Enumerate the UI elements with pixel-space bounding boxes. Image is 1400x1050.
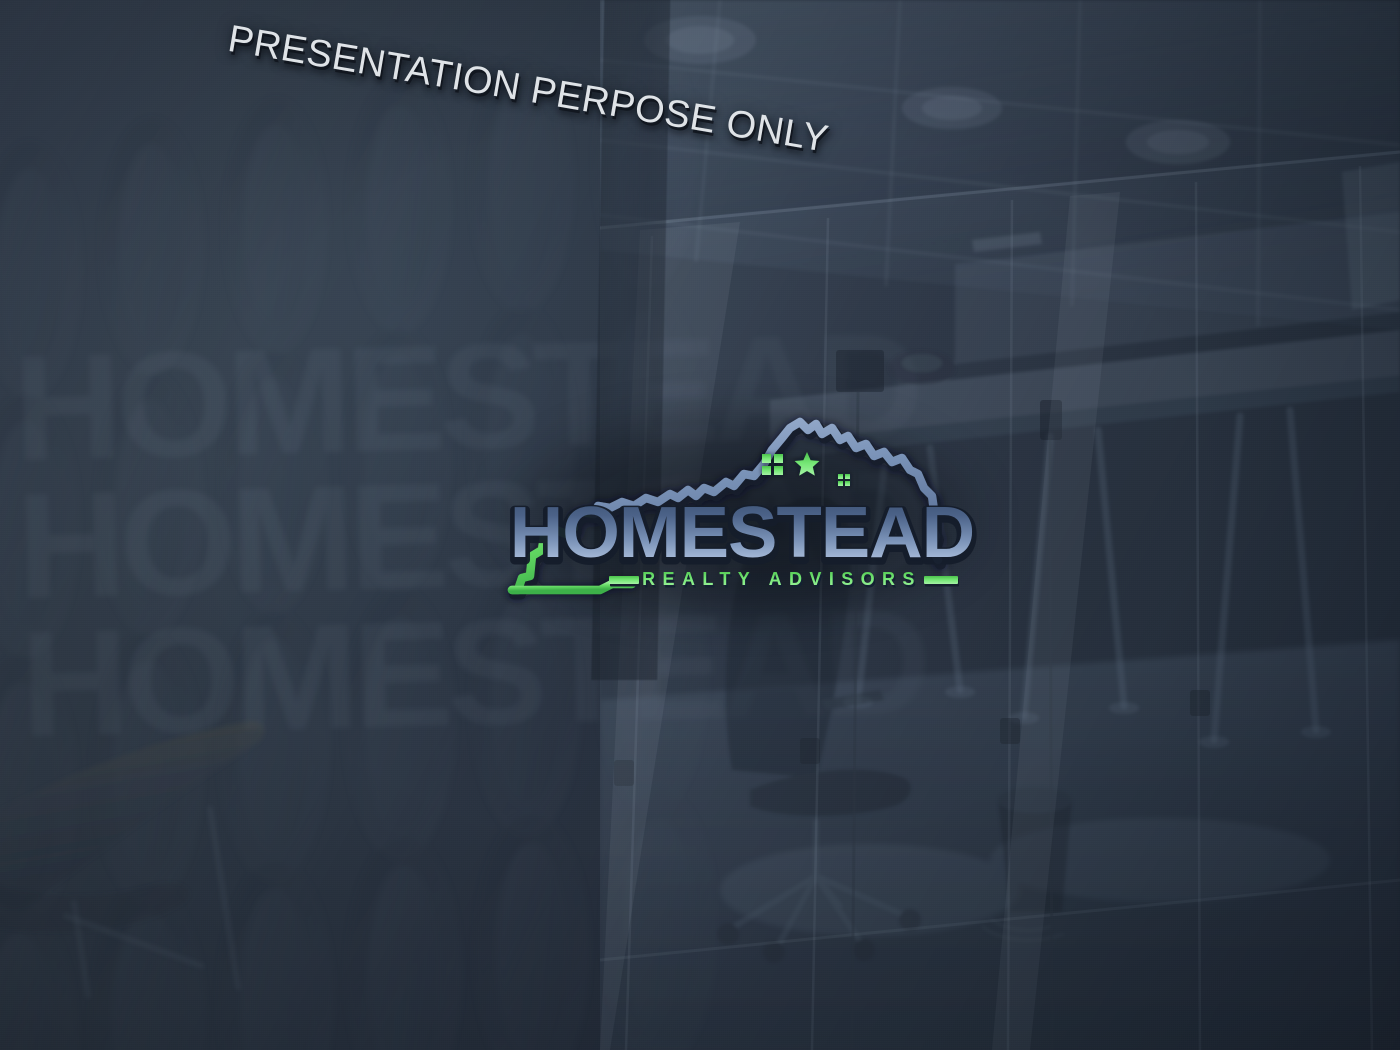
- tagline-text: REALTY ADVISORS: [642, 569, 922, 589]
- brand-wordmark: HOMESTEAD HOMESTEAD: [510, 493, 974, 576]
- brand-wordmark-face: HOMESTEAD: [510, 493, 974, 573]
- window-pane-small-icon: [838, 474, 850, 486]
- tagline-dash-right: [924, 576, 959, 587]
- star-icon: [795, 452, 820, 476]
- tagline-dash-left: [609, 576, 640, 587]
- logo-mockup-canvas: HOMESTEAD HOMESTEAD HOMESTEAD: [0, 0, 1400, 1050]
- logo-lockup: HOMESTEAD HOMESTEAD REALTY ADVISORS REAL…: [482, 378, 1002, 628]
- tagline-row: REALTY ADVISORS REALTY ADVISORS: [609, 569, 959, 592]
